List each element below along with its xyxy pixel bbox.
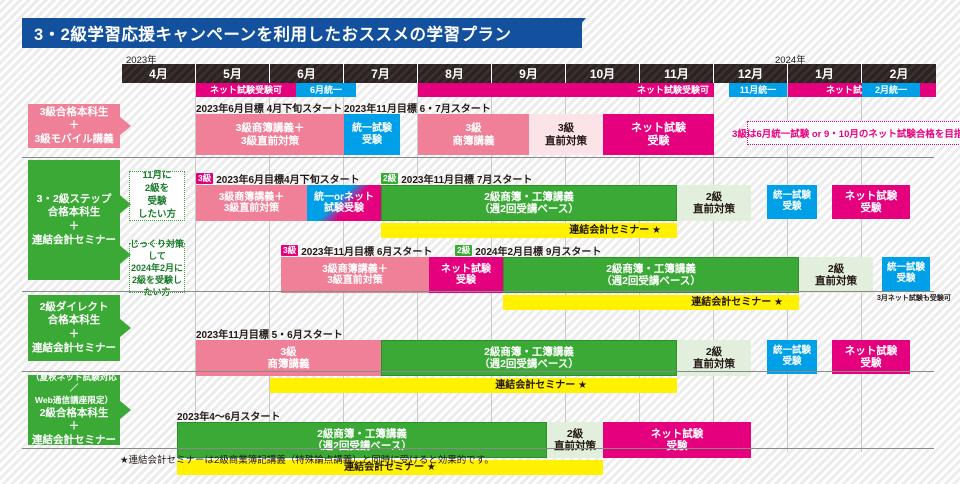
row2b-start-label-3kyu: 3級 2023年11月目標 6月スタート bbox=[281, 243, 432, 258]
row2a-bar-unified-exam-label: 統一試験 受験 bbox=[773, 191, 811, 213]
row-separator-1 bbox=[22, 157, 934, 158]
month-cell-1: 1月 bbox=[788, 64, 862, 83]
row1-start-label-a: 2023年6月目標 4月下旬スタート bbox=[196, 100, 342, 115]
row2a-bar-shobo-plus-chokuzen: 3級商簿講義＋ 3級直前対策 bbox=[196, 185, 307, 221]
row2a-tag-2kyu: 2級 bbox=[381, 173, 398, 184]
row2-condition-a-label: 11月に 2級を 受験 したい方 bbox=[138, 170, 176, 221]
month-cell-8: 8月 bbox=[418, 64, 492, 83]
month-cell-2: 2月 bbox=[862, 64, 936, 83]
exam-window-feb-unified: 2月統一 bbox=[862, 83, 920, 97]
row3-bar-2kyu-lecture-label: 2級商簿・工簿講義 （週2回受講ベース） bbox=[479, 346, 579, 370]
row2b-bar-shobo-plus-chokuzen: 3級商簿講義＋ 3級直前対策 bbox=[281, 257, 429, 293]
row2a-bar-2kyu-chokuzen: 2級 直前対策 bbox=[677, 185, 751, 221]
row2a-bar-net-exam: ネット試験 受験 bbox=[832, 185, 910, 219]
category-label-3kyu-honkasei-text: 3級合格本科生 ＋ 3級モバイル講義 bbox=[34, 106, 113, 147]
row3-bar-3kyu-shobo-label: 3級 商簿講義 bbox=[268, 346, 310, 370]
row1-bar-net-exam: ネット試験 受験 bbox=[603, 114, 714, 155]
row2a-start-text-2kyu: 2023年11月目標 7月スタート bbox=[401, 171, 532, 186]
row3-bar-unified-exam-label: 統一試験 受験 bbox=[773, 346, 811, 368]
row1-bar-shobo-plus-chokuzen: 3級商簿講義＋ 3級直前対策 bbox=[196, 114, 344, 155]
month-cell-9: 9月 bbox=[492, 64, 566, 83]
row2a-tag-3kyu: 3級 bbox=[196, 173, 213, 184]
row3-start-label: 2023年11月目標 5・6月スタート bbox=[196, 326, 343, 341]
row2a-bar-net-exam-label: ネット試験 受験 bbox=[845, 190, 898, 214]
row2b-bar-2kyu-lecture: 2級商簿・工簿講義 （週2回受講ベース） bbox=[503, 257, 799, 293]
month-cell-10: 10月 bbox=[566, 64, 640, 83]
row4-start-label: 2023年4〜6月スタート bbox=[177, 408, 280, 423]
month-cell-6: 6月 bbox=[270, 64, 344, 83]
row2b-bar-net-exam: ネット試験 受験 bbox=[429, 257, 503, 293]
row4-bar-2kyu-chokuzen: 2級 直前対策 bbox=[547, 422, 603, 458]
row2a-start-text-3kyu: 2023年6月目標4月下旬スタート bbox=[216, 171, 359, 186]
row2a-bar-unified-or-net-exam: 統一orネット 試験受験 bbox=[307, 185, 381, 221]
row2b-start-label-2kyu: 2級 2024年2月目標 9月スタート bbox=[455, 243, 601, 258]
exam-window-net-spring: ネット試験受験可 bbox=[196, 83, 296, 97]
row1-bar-shobo-plus-chokuzen-label: 3級商簿講義＋ 3級直前対策 bbox=[236, 122, 305, 146]
row1-bar-unified-exam-label: 統一試験 受験 bbox=[352, 123, 392, 146]
row2b-bar-unified-exam: 統一試験 受験 bbox=[882, 257, 930, 291]
row1-bar-shobo-label: 3級 商簿講義 bbox=[453, 122, 495, 146]
row2a-start-label-3kyu: 3級 2023年6月目標4月下旬スタート bbox=[196, 171, 360, 186]
month-cell-4: 4月 bbox=[122, 64, 196, 83]
row2b-bar-unified-exam-label: 統一試験 受験 bbox=[887, 263, 925, 285]
row2b-bar-2kyu-lecture-label: 2級商簿・工簿講義 （週2回受講ベース） bbox=[601, 263, 701, 287]
category-label-2kyu-direct-text: 2級ダイレクト 合格本科生 ＋ 連結会計セミナー bbox=[32, 301, 116, 356]
row2b-start-text-2kyu: 2024年2月目標 9月スタート bbox=[475, 243, 601, 258]
row2a-bar-2kyu-lecture-label: 2級商簿・工簿講義 （週2回受講ベース） bbox=[479, 191, 579, 215]
page-title: 3・2級学習応援キャンペーンを利用したおススメの学習プラン bbox=[22, 21, 512, 45]
row2a-bar-renketsu-seminar: 連結会計セミナー ★ bbox=[381, 223, 677, 238]
row2a-bar-2kyu-lecture: 2級商簿・工簿講義 （週2回受講ベース） bbox=[381, 185, 677, 221]
category-label-2kyu-web[interactable]: （夏秋ネット試験対応／ Web通信講座限定） 2級合格本科生 ＋ 連結会計セミナ… bbox=[28, 375, 120, 445]
row1-bar-chokuzen: 3級 直前対策 bbox=[529, 114, 603, 155]
row2b-bar-net-exam-label: ネット試験 受験 bbox=[441, 264, 491, 287]
row1-bar-chokuzen-label: 3級 直前対策 bbox=[545, 122, 587, 146]
row3-bar-net-exam-label: ネット試験 受験 bbox=[845, 345, 898, 369]
category-label-step-goukaku[interactable]: 3・2級ステップ 合格本科生 ＋ 連結会計セミナー bbox=[28, 160, 120, 280]
row-separator-3 bbox=[22, 371, 934, 372]
row2-condition-b-label: じっくり対策して 2024年2月に 2級を受験したい方 bbox=[130, 238, 184, 299]
row2-condition-b: じっくり対策して 2024年2月に 2級を受験したい方 bbox=[129, 243, 185, 293]
row2b-bar-2kyu-chokuzen-label: 2級 直前対策 bbox=[815, 263, 857, 287]
row2b-start-text-3kyu: 2023年11月目標 6月スタート bbox=[301, 243, 432, 258]
category-label-step-goukaku-text: 3・2級ステップ 合格本科生 ＋ 連結会計セミナー bbox=[32, 193, 116, 248]
row1-bar-net-exam-label: ネット試験 受験 bbox=[631, 122, 686, 147]
row1-bar-unified-exam: 統一試験 受験 bbox=[344, 114, 400, 155]
study-plan-gantt: 2023年 2024年 4月 5月 6月 7月 8月 9月 10月 11月 12… bbox=[0, 52, 960, 452]
footnote: ★連結会計セミナーは2級商業簿記講義（特殊論点講義）と同時に受けると効果的です。 bbox=[120, 452, 494, 466]
row2b-bar-renketsu-seminar: 連結会計セミナー ★ bbox=[503, 295, 799, 310]
row3-bar-renketsu-seminar: 連結会計セミナー ★ bbox=[270, 378, 677, 393]
month-cell-7: 7月 bbox=[344, 64, 418, 83]
row1-advice-note: 3級は6月統一試験 or 9・10月のネット試験合格を目指そう！ bbox=[747, 121, 960, 145]
timeline-rows: ネット試験受験可 6月統一 ネット試験受験可 11月統一 ネット試験受験可 2月… bbox=[122, 83, 934, 452]
row3-bar-2kyu-chokuzen-label: 2級 直前対策 bbox=[693, 346, 735, 370]
page-title-banner: 3・2級学習応援キャンペーンを利用したおススメの学習プラン bbox=[22, 18, 582, 48]
row2a-bar-2kyu-chokuzen-label: 2級 直前対策 bbox=[693, 191, 735, 215]
row2b-tag-3kyu: 3級 bbox=[281, 245, 298, 256]
row2b-bar-shobo-plus-chokuzen-label: 3級商簿講義＋ 3級直前対策 bbox=[322, 264, 388, 287]
exam-window-nov-unified: 11月統一 bbox=[729, 83, 787, 97]
row3-bar-unified-exam: 統一試験 受験 bbox=[767, 340, 817, 374]
category-label-3kyu-honkasei[interactable]: 3級合格本科生 ＋ 3級モバイル講義 bbox=[28, 104, 120, 148]
row1-start-label-b: 2023年11月目標 6・7月スタート bbox=[344, 100, 491, 115]
row2a-bar-shobo-plus-chokuzen-label: 3級商簿講義＋ 3級直前対策 bbox=[219, 192, 285, 215]
row2b-small-note: 3月ネット試験も受験可 bbox=[877, 293, 951, 303]
row4-bar-net-exam: ネット試験 受験 bbox=[603, 422, 751, 458]
category-label-2kyu-web-sub: （夏秋ネット試験対応／ Web通信講座限定） bbox=[28, 372, 120, 406]
row2b-tag-2kyu: 2級 bbox=[455, 245, 472, 256]
timeline-grid: 4月 5月 6月 7月 8月 9月 10月 11月 12月 1月 2月 ネット試… bbox=[122, 52, 934, 452]
row2a-bar-unified-or-net-exam-label: 統一orネット 試験受験 bbox=[314, 192, 374, 215]
exam-window-net-summer: ネット試験受験可 bbox=[418, 83, 714, 97]
month-header-row: 4月 5月 6月 7月 8月 9月 10月 11月 12月 1月 2月 bbox=[122, 64, 934, 83]
month-cell-5: 5月 bbox=[196, 64, 270, 83]
month-cell-12: 12月 bbox=[714, 64, 788, 83]
row2a-bar-unified-exam: 統一試験 受験 bbox=[767, 185, 817, 219]
month-cell-11: 11月 bbox=[640, 64, 714, 83]
row2b-bar-2kyu-chokuzen: 2級 直前対策 bbox=[799, 257, 873, 293]
exam-window-june-unified: 6月統一 bbox=[296, 83, 356, 97]
row1-bar-shobo: 3級 商簿講義 bbox=[418, 114, 529, 155]
row3-bar-net-exam: ネット試験 受験 bbox=[832, 340, 910, 374]
category-label-2kyu-web-text: 2級合格本科生 ＋ 連結会計セミナー bbox=[32, 407, 116, 448]
row2a-start-label-2kyu: 2級 2023年11月目標 7月スタート bbox=[381, 171, 532, 186]
row2-condition-a: 11月に 2級を 受験 したい方 bbox=[129, 171, 185, 221]
category-label-2kyu-direct[interactable]: 2級ダイレクト 合格本科生 ＋ 連結会計セミナー bbox=[28, 295, 120, 361]
row-separator-4 bbox=[22, 448, 934, 449]
row-separator-2 bbox=[22, 291, 934, 292]
